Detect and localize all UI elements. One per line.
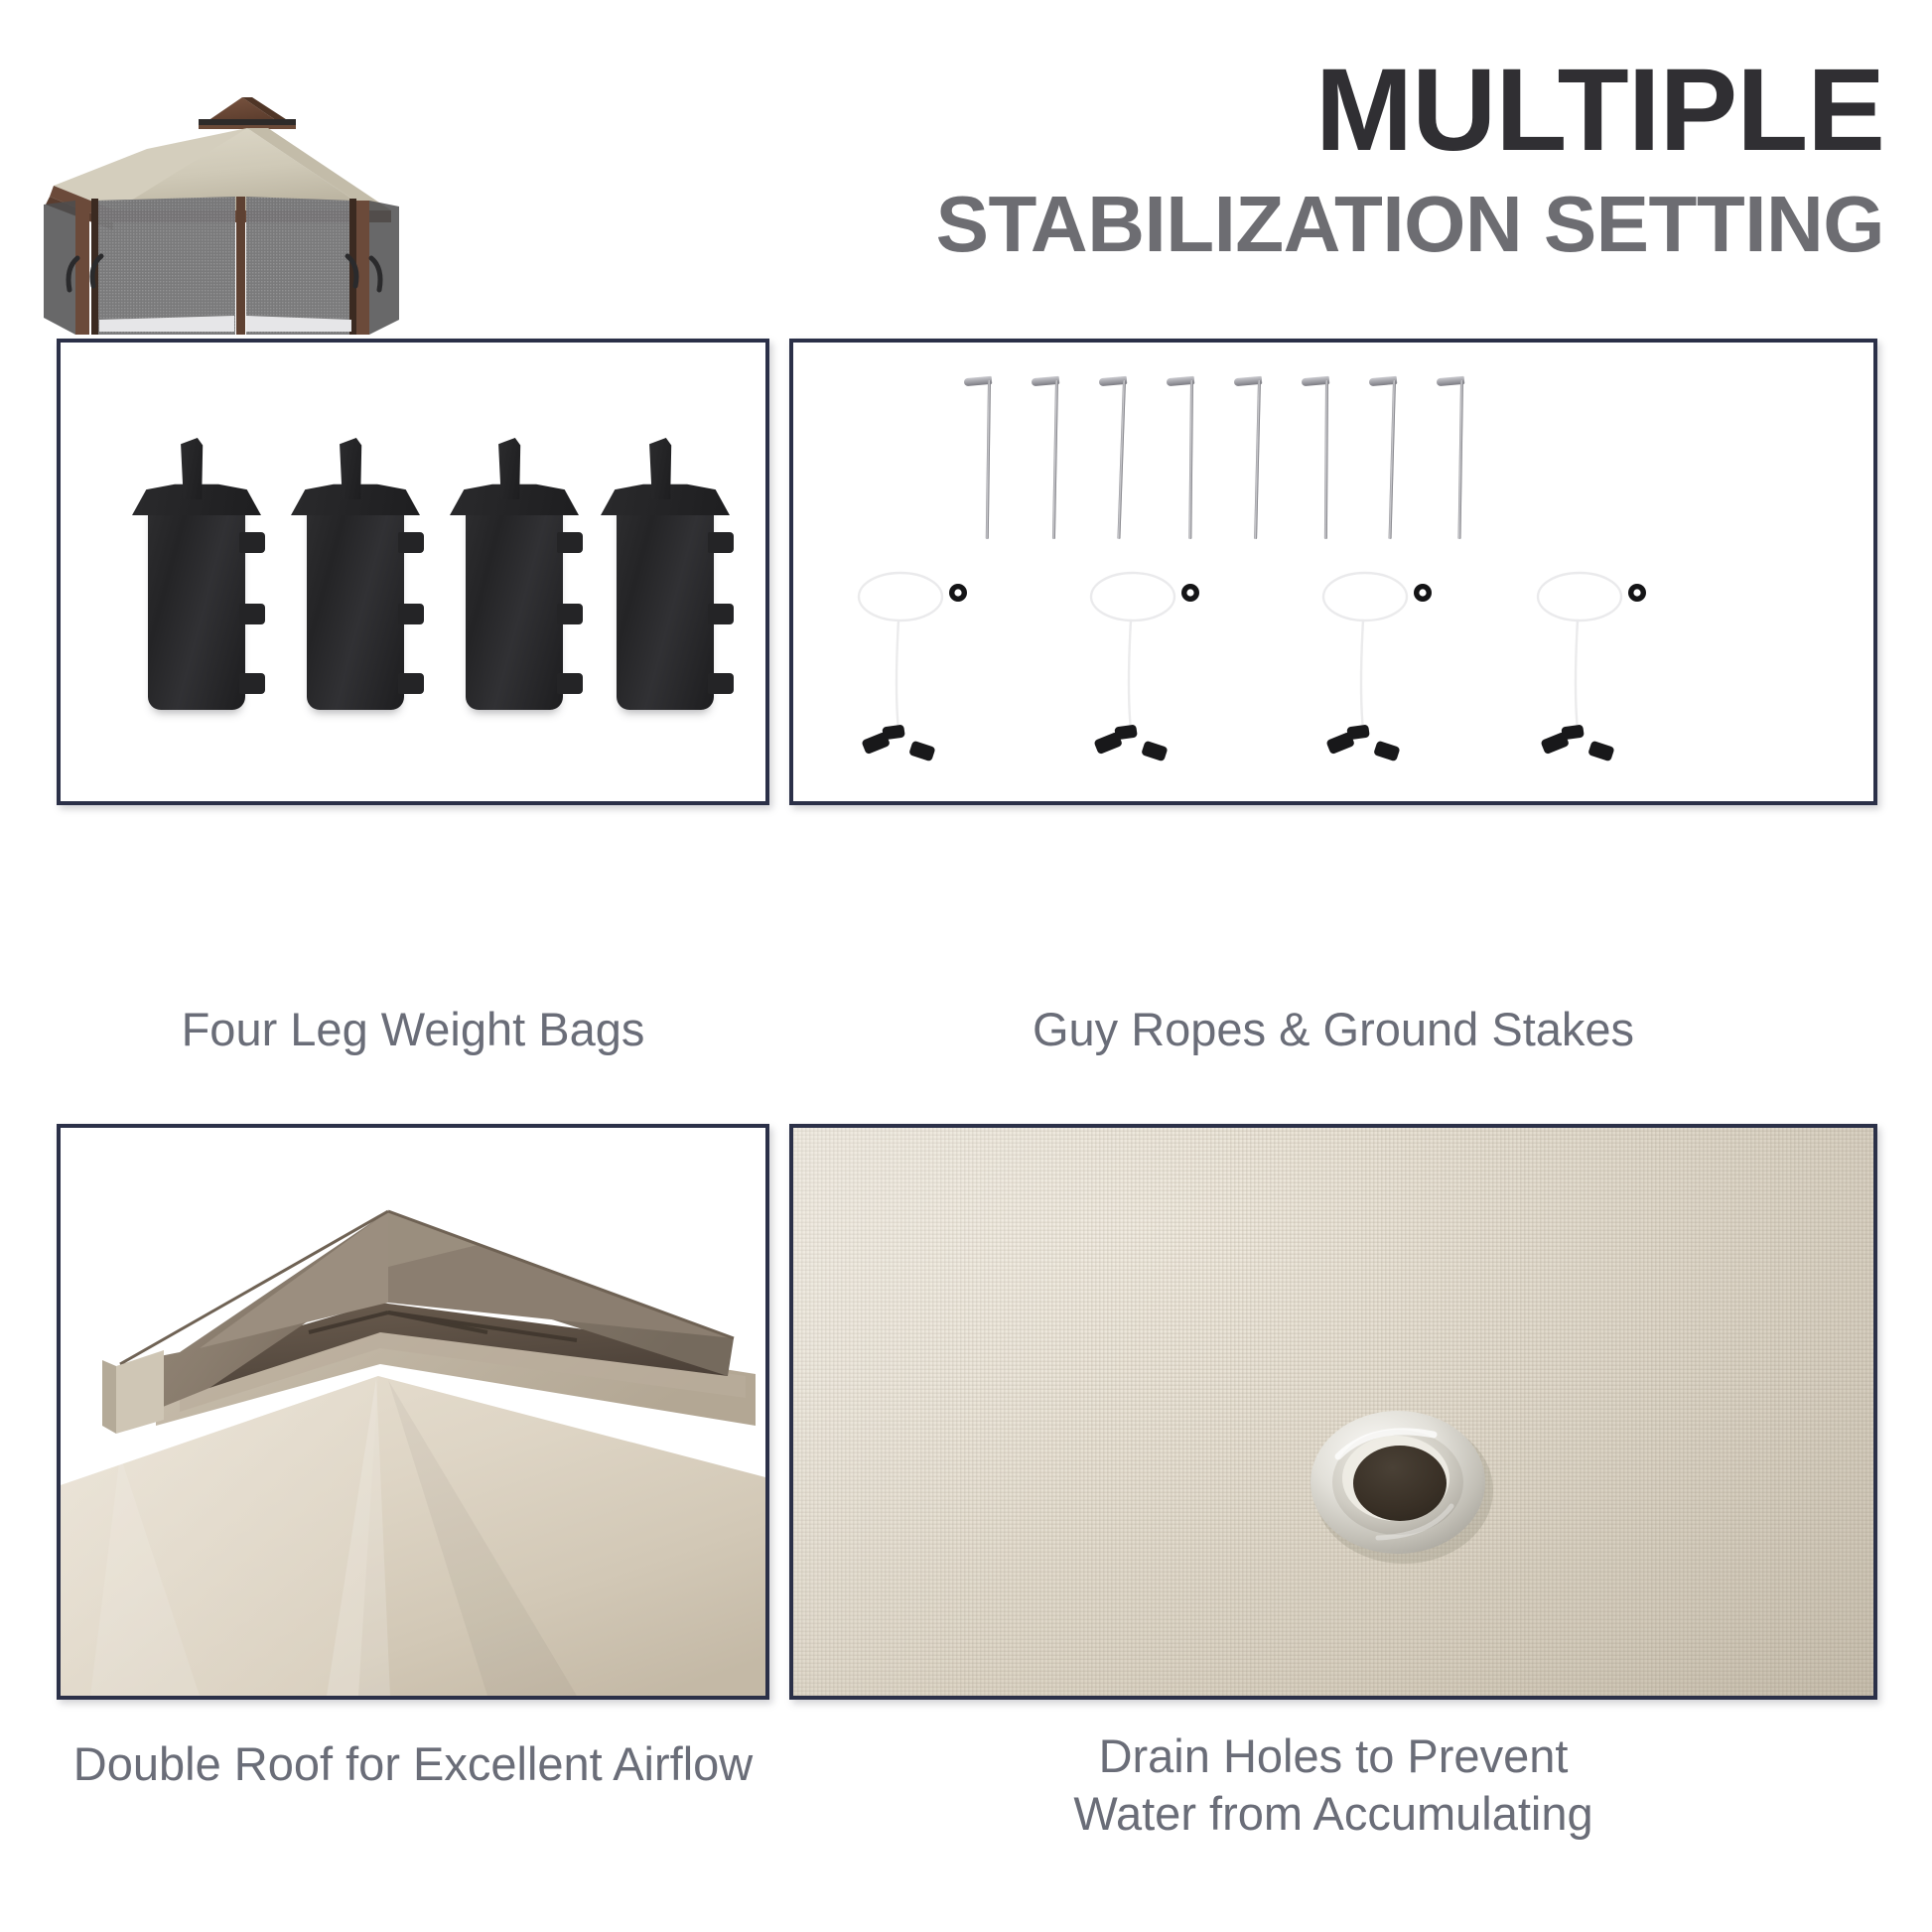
caption-weight-bags: Four Leg Weight Bags (57, 1001, 769, 1058)
ground-stake (1437, 372, 1482, 539)
page-subtitle: STABILIZATION SETTING (792, 183, 1884, 266)
ground-stake (1032, 372, 1077, 539)
panel-drain-holes (789, 1124, 1877, 1700)
caption-guy-ropes-stakes: Guy Ropes & Ground Stakes (789, 1001, 1877, 1058)
weight-bag (307, 457, 404, 710)
page-title: MULTIPLE (792, 52, 1884, 169)
ground-stake-group (793, 364, 1873, 553)
ground-stake (964, 372, 1010, 539)
header-block: MULTIPLE STABILIZATION SETTING (792, 52, 1884, 266)
ground-stake (1167, 372, 1212, 539)
grommet-icon (1301, 1395, 1499, 1572)
ground-stake (1099, 372, 1145, 539)
guy-rope-bundle (1055, 559, 1244, 789)
guy-rope-bundle (823, 559, 1012, 789)
weight-bag (466, 457, 563, 710)
panel-guy-ropes-stakes (789, 339, 1877, 805)
gazebo-icon (14, 52, 411, 335)
guy-rope-bundle (1502, 559, 1691, 789)
infographic-page: MULTIPLE STABILIZATION SETTING (0, 0, 1932, 1932)
caption-double-roof: Double Roof for Excellent Airflow (57, 1735, 769, 1793)
panel-double-roof (57, 1124, 769, 1700)
panel-weight-bags (57, 339, 769, 805)
drain-hole-grommet (1301, 1395, 1499, 1572)
gazebo-product-image (14, 52, 411, 335)
weight-bag (148, 457, 245, 710)
guy-rope-bundle (1288, 559, 1476, 789)
ground-stake (1369, 372, 1415, 539)
weight-bag-group (61, 343, 765, 801)
weight-bag (617, 457, 714, 710)
ground-stake (1302, 372, 1347, 539)
double-roof-photo (61, 1128, 765, 1696)
caption-drain-holes: Drain Holes to Prevent Water from Accumu… (789, 1727, 1877, 1843)
ground-stake (1234, 372, 1280, 539)
guy-rope-group (793, 551, 1873, 789)
